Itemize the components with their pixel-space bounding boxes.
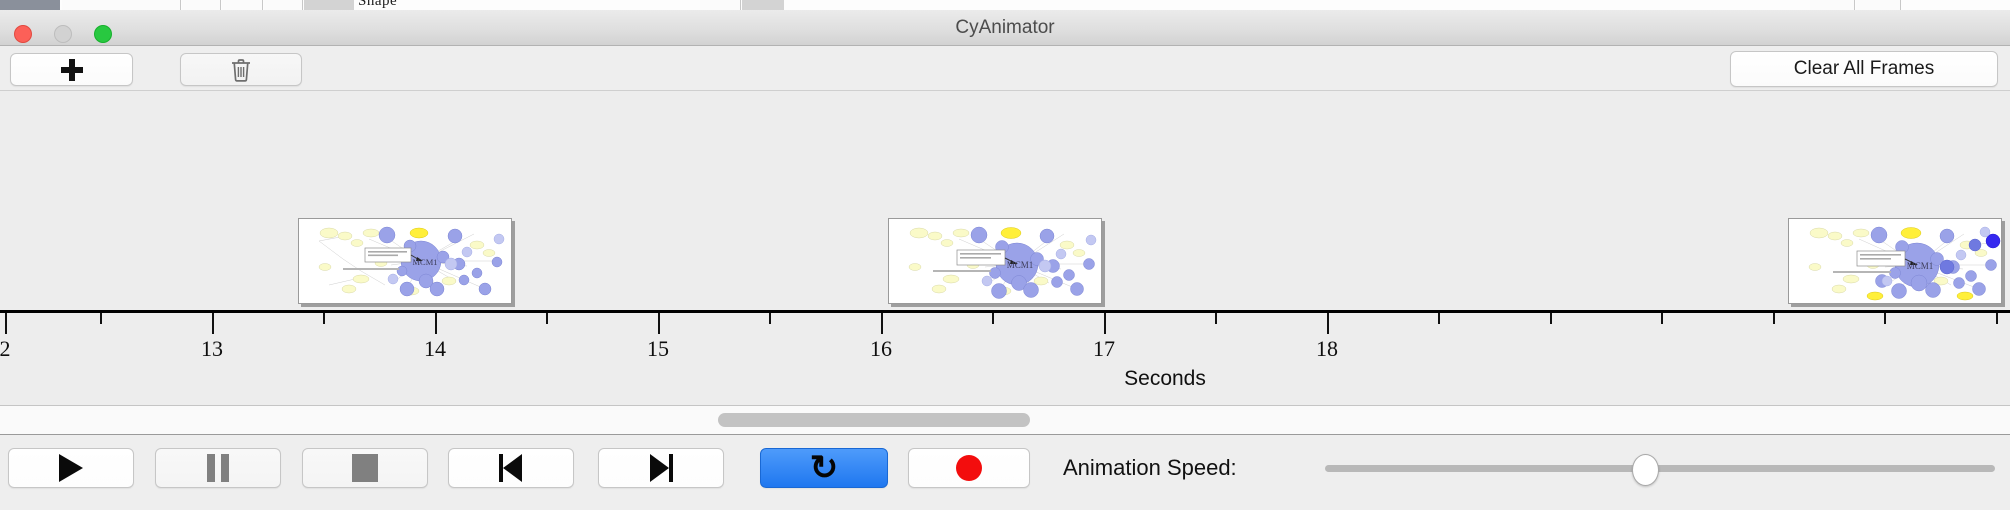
trash-icon: [230, 58, 252, 82]
axis-tick-minor: [100, 313, 102, 324]
bg-cell: [62, 0, 181, 10]
axis-tick-minor: [323, 313, 325, 324]
axis-tick-major: [5, 313, 7, 334]
axis-tick-minor: [1884, 313, 1886, 324]
axis-tick-minor: [1438, 313, 1440, 324]
axis-tick-minor: [1996, 313, 1998, 324]
play-button[interactable]: [8, 448, 134, 488]
axis-tick-label: 2: [0, 336, 11, 362]
animation-speed-slider[interactable]: [1325, 448, 1995, 488]
axis-tick-label: 18: [1316, 336, 1338, 362]
axis-tick-minor: [769, 313, 771, 324]
timeline-frame-thumbnail[interactable]: MCM1: [298, 218, 512, 304]
scrollbar-thumb[interactable]: [718, 413, 1030, 427]
axis-title: Seconds: [1124, 367, 1206, 391]
network-graph-thumbnail: MCM1: [889, 219, 1101, 303]
add-frame-button[interactable]: [10, 53, 133, 86]
timeline-frame-thumbnail[interactable]: MCM1: [888, 218, 1102, 304]
window-title: CyAnimator: [0, 10, 2010, 45]
record-icon: [956, 455, 982, 481]
skip-to-end-button[interactable]: [598, 448, 724, 488]
skip-to-start-icon: [498, 454, 524, 482]
bg-strip-label: Shape: [358, 0, 397, 10]
axis-tick-major: [1104, 313, 1106, 334]
bg-cell: [1856, 0, 1901, 10]
playback-control-bar: ↻ Animation Speed:: [0, 435, 2010, 510]
pause-button[interactable]: [155, 448, 281, 488]
loop-button[interactable]: ↻: [760, 448, 888, 488]
svg-text:MCM1: MCM1: [412, 257, 437, 267]
clear-all-frames-label: Clear All Frames: [1794, 58, 1934, 80]
plus-icon: [61, 59, 83, 81]
axis-tick-major: [881, 313, 883, 334]
axis-tick-major: [435, 313, 437, 334]
bg-gray-block: [304, 0, 354, 10]
axis-tick-major: [658, 313, 660, 334]
skip-to-end-icon: [648, 454, 674, 482]
bg-tab-block: [0, 0, 60, 10]
axis-tick-label: 14: [424, 336, 446, 362]
axis-tick-major: [1327, 313, 1329, 334]
title-bar: CyAnimator: [0, 10, 2010, 46]
stop-button[interactable]: [302, 448, 428, 488]
axis-tick-label: 13: [201, 336, 223, 362]
slider-thumb[interactable]: [1632, 454, 1659, 486]
bg-cell: [182, 0, 221, 10]
svg-text:MCM1: MCM1: [1907, 261, 1934, 271]
timeline-horizontal-scrollbar[interactable]: [0, 406, 2010, 435]
axis-tick-minor: [992, 313, 994, 324]
pause-icon: [207, 454, 229, 482]
bg-cell: [700, 0, 741, 10]
svg-text:MCM1: MCM1: [1007, 260, 1034, 270]
axis-tick-minor: [546, 313, 548, 324]
cyanimator-window: Shape CyAnimator Clear All Frames: [0, 0, 2010, 510]
delete-frame-button[interactable]: [180, 53, 302, 86]
network-graph-thumbnail: MCM1: [299, 219, 511, 303]
axis-tick-minor: [1215, 313, 1217, 324]
loop-icon: ↻: [810, 451, 839, 485]
timeline-frame-thumbnail[interactable]: MCM1: [1788, 218, 2002, 304]
animation-speed-label: Animation Speed:: [1063, 448, 1237, 488]
axis-line: [0, 310, 2010, 313]
bg-cell: [222, 0, 263, 10]
axis-tick-minor: [1550, 313, 1552, 324]
axis-tick-label: 17: [1093, 336, 1115, 362]
bg-gray-block: [742, 0, 784, 10]
record-button[interactable]: [908, 448, 1030, 488]
axis-tick-minor: [1773, 313, 1775, 324]
timeline-ruler: 2 13 14 15 16 17 18 Seconds: [0, 310, 2010, 405]
network-graph-thumbnail: MCM1: [1789, 219, 2001, 303]
axis-tick-major: [212, 313, 214, 334]
play-icon: [59, 454, 83, 482]
slider-track[interactable]: [1325, 465, 1995, 472]
clear-all-frames-button[interactable]: Clear All Frames: [1730, 51, 1998, 87]
skip-to-start-button[interactable]: [448, 448, 574, 488]
axis-tick-label: 15: [647, 336, 669, 362]
axis-tick-label: 16: [870, 336, 892, 362]
stop-icon: [352, 454, 378, 482]
bg-cell: [264, 0, 303, 10]
toolbar: Clear All Frames: [0, 46, 2010, 91]
axis-tick-minor: [1661, 313, 1663, 324]
bg-cell: [1810, 0, 1855, 10]
